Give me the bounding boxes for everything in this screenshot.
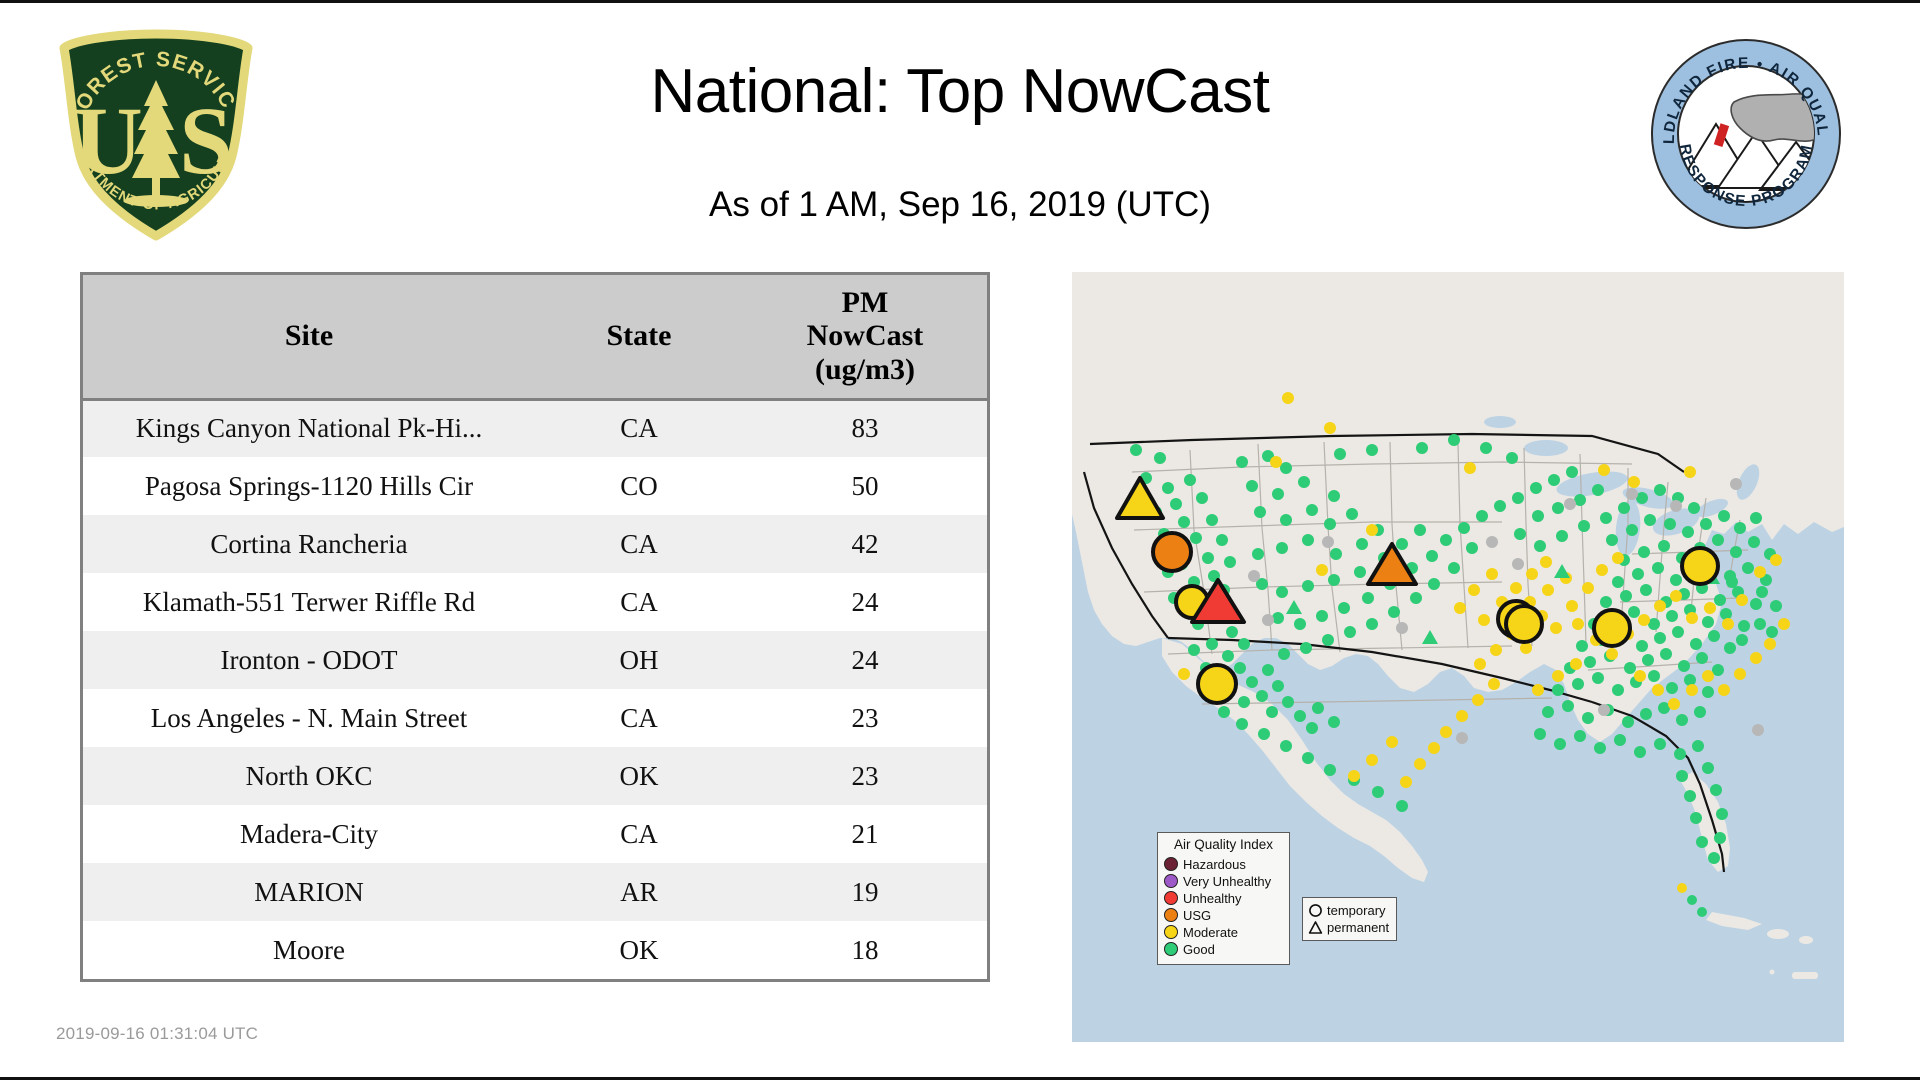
aqi-legend-row-unhealthy: Unhealthy: [1164, 890, 1283, 907]
pm-header-line-2: NowCast: [747, 319, 983, 353]
aqi-swatch-usg: [1164, 908, 1178, 922]
cell-state: CA: [535, 399, 743, 457]
table-row[interactable]: Klamath-551 Terwer Riffle Rd CA 24: [83, 573, 987, 631]
aqi-label-unhealthy: Unhealthy: [1183, 892, 1242, 905]
aqi-legend-title: Air Quality Index: [1164, 838, 1283, 852]
cell-pm: 23: [743, 747, 987, 805]
cell-state: OK: [535, 921, 743, 979]
column-header-site: Site: [83, 275, 535, 399]
cell-state: OK: [535, 747, 743, 805]
table-row[interactable]: Kings Canyon National Pk-Hi... CA 83: [83, 399, 987, 457]
symbol-label-temporary: temporary: [1327, 903, 1386, 918]
cell-pm: 42: [743, 515, 987, 573]
cell-state: CO: [535, 457, 743, 515]
symbol-legend: temporary permanent: [1302, 897, 1397, 941]
aqi-label-hazardous: Hazardous: [1183, 858, 1246, 871]
cell-pm: 19: [743, 863, 987, 921]
table-row[interactable]: Ironton - ODOT OH 24: [83, 631, 987, 689]
cell-site: Los Angeles - N. Main Street: [83, 689, 535, 747]
table-row[interactable]: Moore OK 18: [83, 921, 987, 979]
aqi-legend: Air Quality Index Hazardous Very Unhealt…: [1157, 832, 1290, 965]
aqi-legend-row-very-unhealthy: Very Unhealthy: [1164, 873, 1283, 890]
page-subtitle: As of 1 AM, Sep 16, 2019 (UTC): [0, 185, 1920, 225]
cell-site: Pagosa Springs-1120 Hills Cir: [83, 457, 535, 515]
table-row[interactable]: Pagosa Springs-1120 Hills Cir CO 50: [83, 457, 987, 515]
cell-site: Kings Canyon National Pk-Hi...: [83, 399, 535, 457]
pm-header-line-1: PM: [747, 286, 983, 320]
marker-los-angeles-n-main-street: [1198, 665, 1236, 703]
aqi-swatch-hazardous: [1164, 857, 1178, 871]
symbol-label-permanent: permanent: [1327, 920, 1389, 935]
cell-state: CA: [535, 689, 743, 747]
cell-pm: 24: [743, 573, 987, 631]
cell-pm: 83: [743, 399, 987, 457]
aqi-swatch-unhealthy: [1164, 891, 1178, 905]
cell-site: Madera-City: [83, 805, 535, 863]
marker-ironton-odot: [1682, 548, 1718, 584]
cell-state: CA: [535, 515, 743, 573]
cell-site: Moore: [83, 921, 535, 979]
cell-site: Ironton - ODOT: [83, 631, 535, 689]
cell-pm: 18: [743, 921, 987, 979]
marker-marion: [1594, 610, 1630, 646]
cell-state: AR: [535, 863, 743, 921]
cell-pm: 21: [743, 805, 987, 863]
table-row[interactable]: MARION AR 19: [83, 863, 987, 921]
table-header-row: Site State PM NowCast (ug/m3): [83, 275, 987, 399]
cell-state: OH: [535, 631, 743, 689]
aqi-legend-row-good: Good: [1164, 941, 1283, 958]
top-nowcast-table: Site State PM NowCast (ug/m3) Kings Cany…: [80, 272, 990, 982]
symbol-legend-row-permanent: permanent: [1308, 919, 1391, 936]
aqi-swatch-moderate: [1164, 925, 1178, 939]
aqi-swatch-very-unhealthy: [1164, 874, 1178, 888]
symbol-legend-row-temporary: temporary: [1308, 902, 1391, 919]
table-row[interactable]: Madera-City CA 21: [83, 805, 987, 863]
column-header-state: State: [535, 275, 743, 399]
aqi-swatch-good: [1164, 942, 1178, 956]
cell-pm: 24: [743, 631, 987, 689]
aqi-label-good: Good: [1183, 943, 1215, 956]
cell-state: CA: [535, 573, 743, 631]
page-title: National: Top NowCast: [0, 56, 1920, 127]
cell-site: Cortina Rancheria: [83, 515, 535, 573]
aqi-legend-row-usg: USG: [1164, 907, 1283, 924]
aqi-map[interactable]: Air Quality Index Hazardous Very Unhealt…: [1072, 272, 1844, 1042]
circle-icon: [1308, 903, 1323, 918]
cell-site: MARION: [83, 863, 535, 921]
cell-pm: 23: [743, 689, 987, 747]
aqi-legend-row-hazardous: Hazardous: [1164, 856, 1283, 873]
marker-moore: [1506, 606, 1542, 642]
table-row[interactable]: North OKC OK 23: [83, 747, 987, 805]
column-header-pm-nowcast: PM NowCast (ug/m3): [743, 275, 987, 399]
aqi-legend-row-moderate: Moderate: [1164, 924, 1283, 941]
cell-pm: 50: [743, 457, 987, 515]
table-body: Kings Canyon National Pk-Hi... CA 83 Pag…: [83, 399, 987, 979]
triangle-icon: [1308, 920, 1323, 935]
table-row[interactable]: Cortina Rancheria CA 42: [83, 515, 987, 573]
aqi-label-usg: USG: [1183, 909, 1211, 922]
table-row[interactable]: Los Angeles - N. Main Street CA 23: [83, 689, 987, 747]
pm-header-line-3: (ug/m3): [747, 353, 983, 387]
cell-site: North OKC: [83, 747, 535, 805]
footer-timestamp: 2019-09-16 01:31:04 UTC: [56, 1024, 258, 1044]
marker-cortina-rancheria: [1153, 533, 1191, 571]
aqi-label-moderate: Moderate: [1183, 926, 1238, 939]
cell-state: CA: [535, 805, 743, 863]
aqi-label-very-unhealthy: Very Unhealthy: [1183, 875, 1271, 888]
cell-site: Klamath-551 Terwer Riffle Rd: [83, 573, 535, 631]
